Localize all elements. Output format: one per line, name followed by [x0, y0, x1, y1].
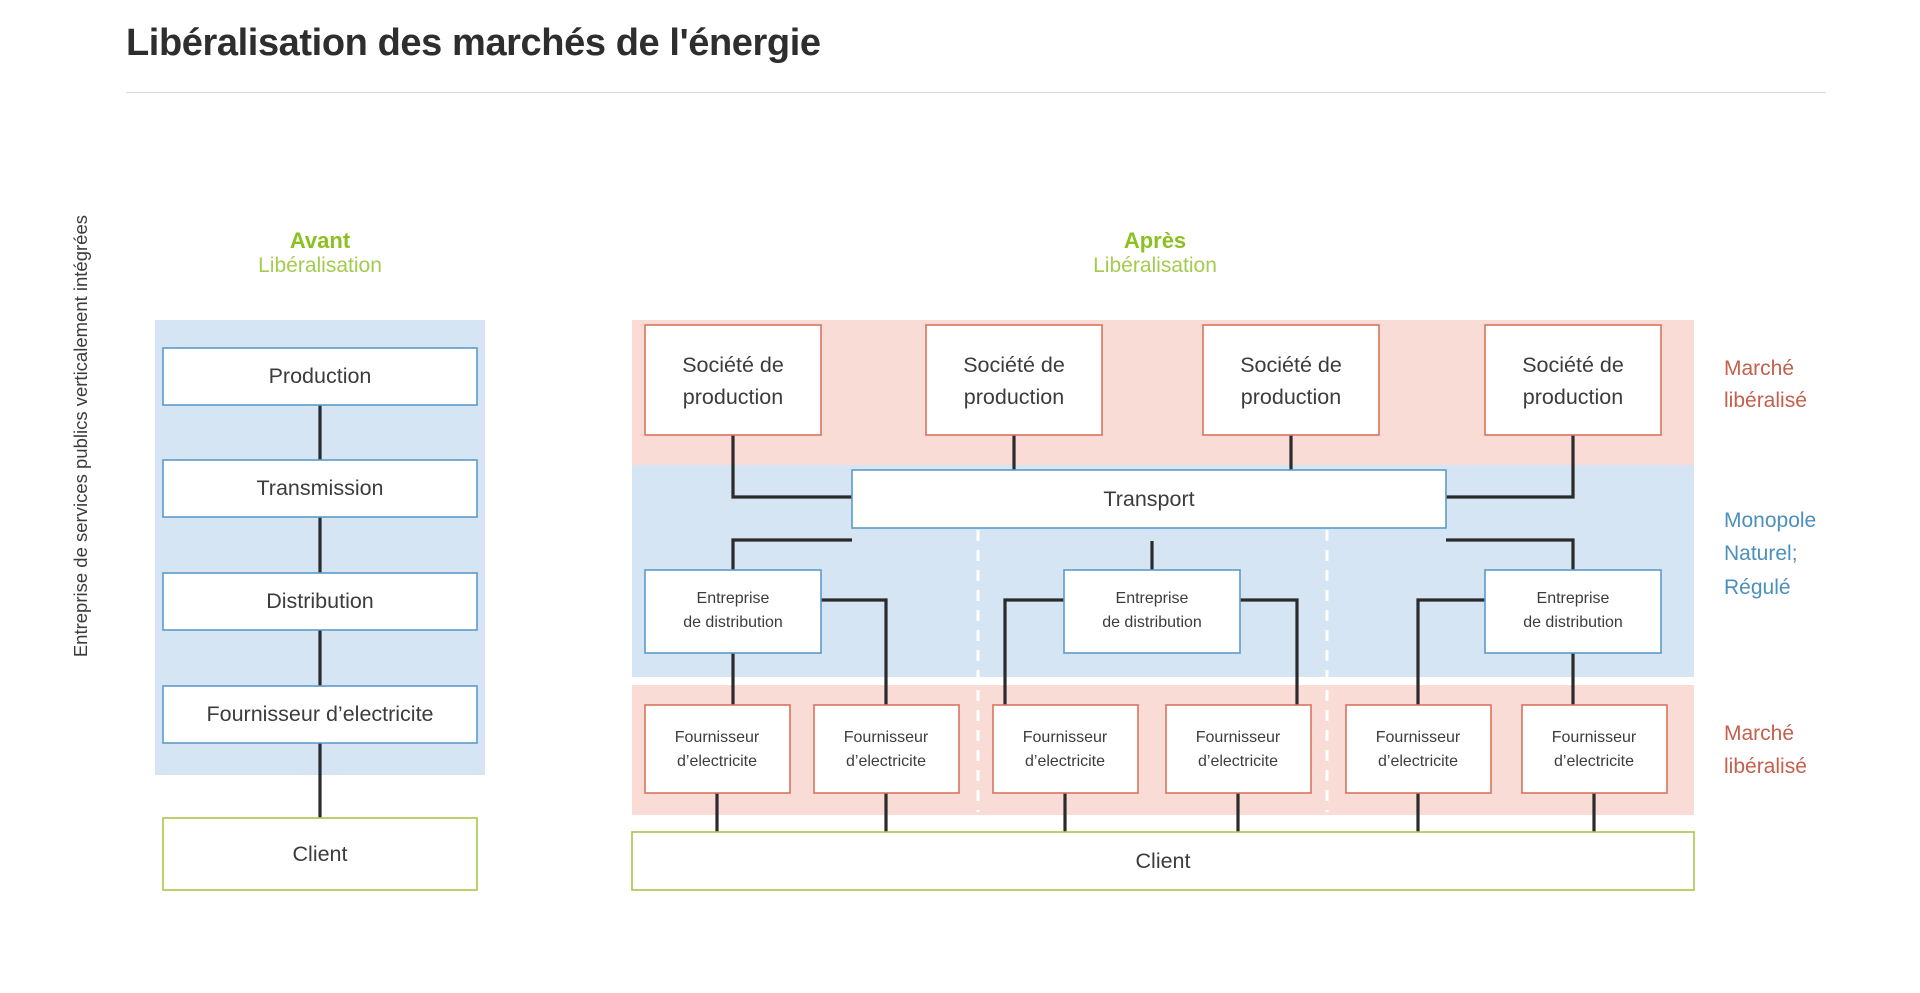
- after-box-production-4-line2: production: [1523, 385, 1623, 409]
- after-box-transport: Transport: [852, 470, 1446, 528]
- side-label-liberalised-top-line2: libéralisé: [1724, 389, 1807, 412]
- side-label-monopoly-line1: Monopole: [1724, 509, 1816, 532]
- after-box-distribution-3-line2: de distribution: [1523, 614, 1623, 631]
- after-box-supplier-5-line1: Fournisseur: [1376, 729, 1461, 746]
- after-box-production-4-line1: Société de: [1522, 353, 1624, 377]
- after-box-supplier-6-line2: d’electricite: [1554, 753, 1634, 770]
- after-box-supplier-5-line2: d’electricite: [1378, 753, 1458, 770]
- after-box-supplier-4-line2: d’electricite: [1198, 753, 1278, 770]
- after-box-supplier-2-line2: d’electricite: [846, 753, 926, 770]
- after-box-supplier-2: Fournisseur d’electricite: [814, 705, 959, 793]
- after-box-supplier-6-line1: Fournisseur: [1552, 729, 1637, 746]
- after-box-supplier-3: Fournisseur d’electricite: [993, 705, 1138, 793]
- after-box-client-label: Client: [1136, 849, 1191, 873]
- before-box-distribution: Distribution: [163, 573, 477, 630]
- after-box-distribution-2-line2: de distribution: [1102, 614, 1202, 631]
- after-box-supplier-4: Fournisseur d’electricite: [1166, 705, 1311, 793]
- after-box-production-3: Société de production: [1203, 325, 1379, 435]
- after-box-supplier-2-line1: Fournisseur: [844, 729, 929, 746]
- after-box-distribution-2-line1: Entreprise: [1116, 590, 1189, 607]
- after-box-distribution-3: Entreprise de distribution: [1485, 570, 1661, 653]
- after-box-supplier-1-line2: d’electricite: [677, 753, 757, 770]
- before-box-production: Production: [163, 348, 477, 405]
- side-label-monopoly-line3: Régulé: [1724, 576, 1791, 599]
- before-box-supplier: Fournisseur d’electricite: [163, 686, 477, 743]
- after-box-production-2-line1: Société de: [963, 353, 1065, 377]
- after-box-distribution-1-line2: de distribution: [683, 614, 783, 631]
- before-box-transmission-label: Transmission: [256, 476, 383, 500]
- after-box-supplier-1: Fournisseur d’electricite: [645, 705, 790, 793]
- side-label-liberalised-bottom-line2: libéralisé: [1724, 755, 1807, 778]
- diagram-canvas: Production Transmission Distribution Fou…: [0, 0, 1920, 993]
- after-box-distribution-1-line1: Entreprise: [697, 590, 770, 607]
- side-label-monopoly-line2: Naturel;: [1724, 542, 1798, 565]
- after-box-distribution-3-line1: Entreprise: [1537, 590, 1610, 607]
- after-box-production-1-line2: production: [683, 385, 783, 409]
- side-label-liberalised-bottom: Marché libéralisé: [1724, 722, 1807, 778]
- after-box-transport-label: Transport: [1103, 487, 1194, 511]
- side-label-liberalised-top-line1: Marché: [1724, 357, 1794, 380]
- before-box-client-label: Client: [293, 842, 348, 866]
- diagram-page: Libéralisation des marchés de l'énergie …: [0, 0, 1920, 993]
- side-label-liberalised-top: Marché libéralisé: [1724, 357, 1807, 412]
- after-box-supplier-1-line1: Fournisseur: [675, 729, 760, 746]
- side-label-monopoly: Monopole Naturel; Régulé: [1724, 509, 1816, 599]
- side-label-liberalised-bottom-line1: Marché: [1724, 722, 1794, 745]
- before-box-distribution-label: Distribution: [266, 589, 374, 613]
- before-box-supplier-label: Fournisseur d’electricite: [206, 702, 433, 726]
- before-box-production-label: Production: [269, 364, 372, 388]
- after-box-supplier-5: Fournisseur d’electricite: [1346, 705, 1491, 793]
- before-box-client: Client: [163, 818, 477, 890]
- after-box-production-2-line2: production: [964, 385, 1064, 409]
- after-box-client: Client: [632, 832, 1694, 890]
- after-box-production-1-line1: Société de: [682, 353, 784, 377]
- after-box-supplier-4-line1: Fournisseur: [1196, 729, 1281, 746]
- before-box-transmission: Transmission: [163, 460, 477, 517]
- after-box-distribution-2: Entreprise de distribution: [1064, 570, 1240, 653]
- after-box-production-3-line1: Société de: [1240, 353, 1342, 377]
- after-box-production-3-line2: production: [1241, 385, 1341, 409]
- after-box-distribution-1: Entreprise de distribution: [645, 570, 821, 653]
- after-box-production-1: Société de production: [645, 325, 821, 435]
- after-box-production-4: Société de production: [1485, 325, 1661, 435]
- after-box-supplier-3-line2: d’electricite: [1025, 753, 1105, 770]
- after-box-supplier-6: Fournisseur d’electricite: [1522, 705, 1667, 793]
- after-box-production-2: Société de production: [926, 325, 1102, 435]
- after-box-supplier-3-line1: Fournisseur: [1023, 729, 1108, 746]
